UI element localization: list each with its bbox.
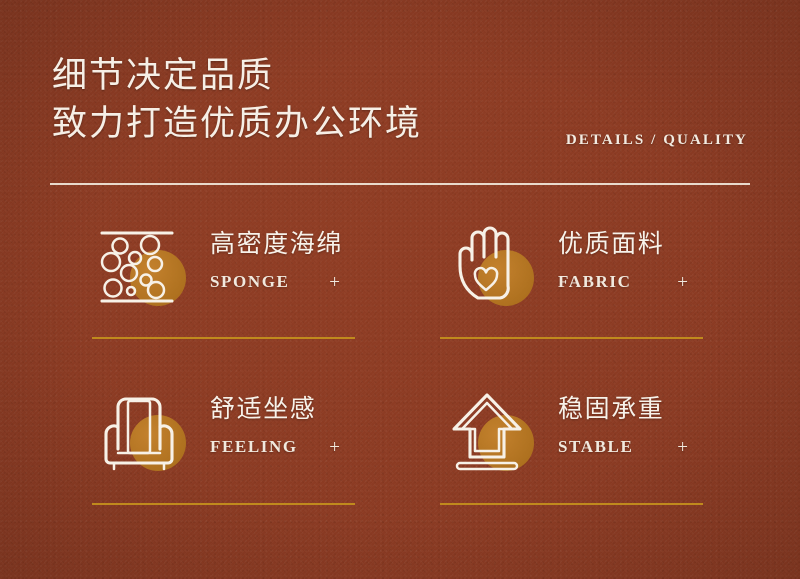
feature-title-cn: 优质面料 bbox=[558, 228, 732, 260]
feature-text: 稳固承重 STABLE + bbox=[558, 393, 732, 457]
feature-item-sponge[interactable]: 高密度海绵 SPONGE + bbox=[92, 214, 384, 379]
feature-row: 高密度海绵 SPONGE + bbox=[0, 214, 800, 379]
expand-plus-icon[interactable]: + bbox=[677, 439, 688, 456]
feature-text: 优质面料 FABRIC + bbox=[558, 228, 732, 292]
feature-title-en: FABRIC bbox=[558, 272, 632, 292]
promo-poster: 细节决定品质 致力打造优质办公环境 DETAILS / QUALITY bbox=[0, 0, 800, 579]
feature-item-fabric[interactable]: 优质面料 FABRIC + bbox=[440, 214, 732, 379]
feature-text: 舒适坐感 FEELING + bbox=[210, 393, 384, 457]
feature-divider bbox=[440, 337, 703, 339]
feature-title-cn: 舒适坐感 bbox=[210, 393, 384, 425]
headline-line-1: 细节决定品质 bbox=[52, 56, 274, 95]
expand-plus-icon[interactable]: + bbox=[677, 274, 688, 291]
feature-divider bbox=[440, 503, 703, 505]
feature-divider bbox=[92, 503, 355, 505]
armchair-icon bbox=[92, 389, 188, 475]
feature-title-cn: 稳固承重 bbox=[558, 393, 732, 425]
feature-title-en: FEELING bbox=[210, 437, 298, 457]
expand-plus-icon[interactable]: + bbox=[329, 439, 340, 456]
feature-item-stable[interactable]: 稳固承重 STABLE + bbox=[440, 379, 732, 544]
feature-title-cn: 高密度海绵 bbox=[210, 228, 384, 260]
feature-title-en: STABLE bbox=[558, 437, 633, 457]
hand-heart-icon bbox=[440, 224, 536, 310]
up-arrow-icon bbox=[440, 389, 536, 475]
page-title: 细节决定品质 致力打造优质办公环境 bbox=[52, 52, 422, 148]
headline-line-2: 致力打造优质办公环境 bbox=[52, 100, 422, 148]
feature-text: 高密度海绵 SPONGE + bbox=[210, 228, 384, 292]
expand-plus-icon[interactable]: + bbox=[329, 274, 340, 291]
feature-grid: 高密度海绵 SPONGE + bbox=[0, 214, 800, 544]
feature-title-en: SPONGE bbox=[210, 272, 290, 292]
eyebrow-label: DETAILS / QUALITY bbox=[566, 132, 748, 149]
header-divider bbox=[50, 183, 750, 185]
feature-row: 舒适坐感 FEELING + bbox=[0, 379, 800, 544]
sponge-icon bbox=[92, 224, 188, 310]
feature-item-feeling[interactable]: 舒适坐感 FEELING + bbox=[92, 379, 384, 544]
feature-divider bbox=[92, 337, 355, 339]
